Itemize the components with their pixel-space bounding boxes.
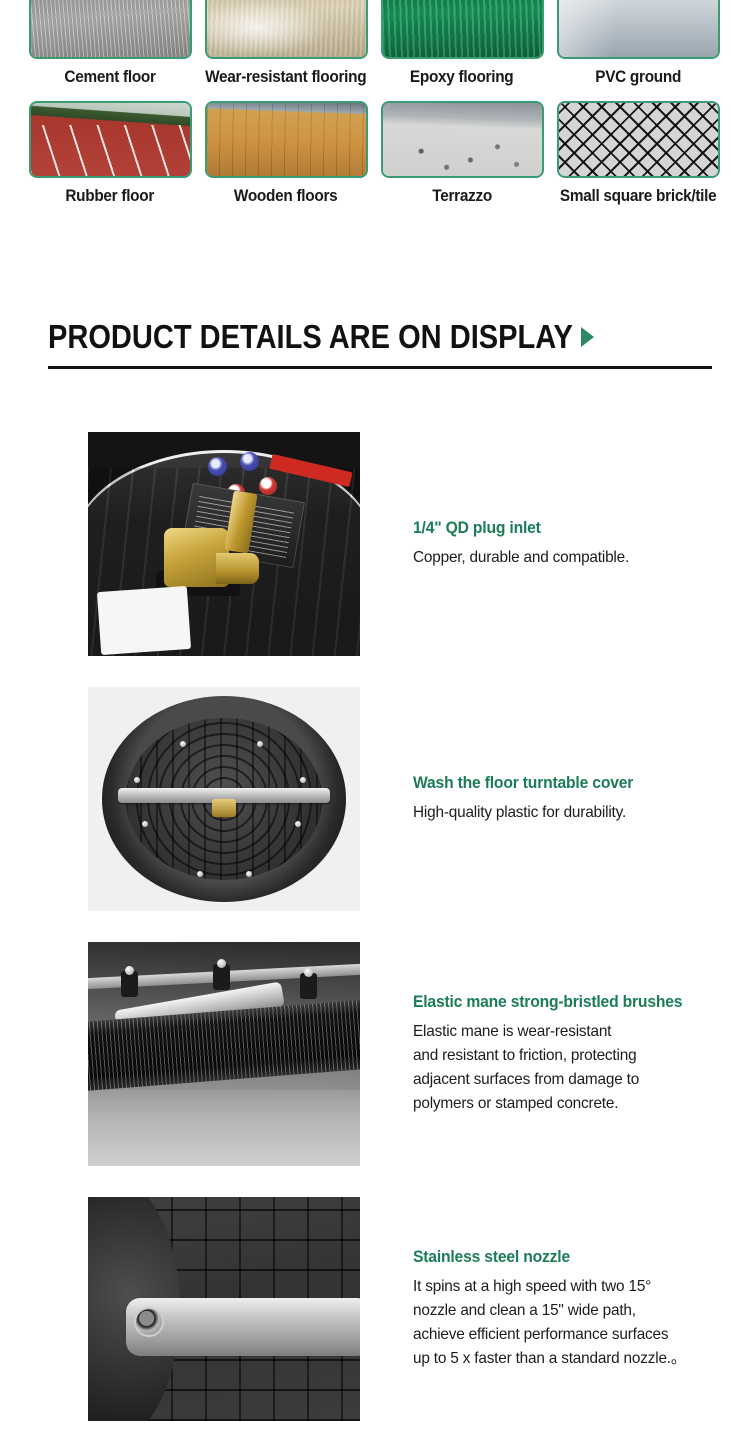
floor-gallery-label: Wear-resistant flooring [205, 68, 366, 87]
heading-divider [48, 366, 712, 369]
screw-icon [257, 741, 263, 747]
screw-icon [197, 871, 203, 877]
floor-gallery-label: Terrazzo [432, 187, 492, 206]
floor-gallery-row: Cement floor Wear-resistant flooring Epo… [0, 0, 750, 101]
product-detail-description: It spins at a high speed with two 15° no… [413, 1275, 686, 1371]
product-detail-row: Wash the floor turntable cover High-qual… [0, 685, 750, 913]
product-detail-title: Elastic mane strong-bristled brushes [413, 993, 682, 1012]
nozzle-tip-icon [134, 1307, 164, 1337]
bristle-brush-photo[interactable] [88, 942, 360, 1166]
terrazzo-texture [383, 103, 542, 176]
product-detail-title: Wash the floor turntable cover [413, 774, 633, 793]
brass-valve-arm [216, 553, 260, 584]
stainless-steel-nozzle-photo[interactable] [88, 1197, 360, 1421]
terrazzo-photo[interactable] [381, 101, 544, 178]
product-detail-copy: Stainless steel nozzle It spins at a hig… [413, 1248, 697, 1371]
product-detail-title: Stainless steel nozzle [413, 1248, 683, 1267]
brass-center-hub [212, 799, 236, 817]
floor-gallery-label: Wooden floors [234, 187, 338, 206]
product-detail-row: Elastic mane strong-bristled brushes Ela… [0, 940, 750, 1168]
floor-type-gallery: Cement floor Wear-resistant flooring Epo… [0, 0, 750, 220]
screw-icon [300, 777, 306, 783]
floor-gallery-item-terrazzo[interactable]: Terrazzo [379, 101, 545, 220]
pvc-texture [559, 0, 718, 57]
product-detail-description: High-quality plastic for durability. [413, 801, 635, 825]
floor-gallery-item-wear-resistant[interactable]: Wear-resistant flooring [203, 0, 369, 101]
product-detail-title: 1/4" QD plug inlet [413, 519, 627, 538]
screw-icon [246, 871, 252, 877]
epoxy-texture [383, 0, 542, 57]
bristle-brush-artwork [88, 942, 360, 1166]
triangle-right-icon [581, 327, 594, 347]
stainless-nozzle-artwork [88, 1197, 360, 1421]
turntable-cover-photo[interactable] [88, 687, 360, 911]
floor-gallery-item-rubber[interactable]: Rubber floor [27, 101, 193, 220]
floor-gallery-item-cement[interactable]: Cement floor [27, 0, 193, 101]
rubber-floor-photo[interactable] [29, 101, 192, 178]
floor-gallery-label: Cement floor [64, 68, 155, 87]
screw-icon [134, 777, 140, 783]
turntable-cover-artwork [88, 687, 360, 911]
floor-gallery-label: Epoxy flooring [410, 68, 514, 87]
floor-gallery-label: Rubber floor [66, 187, 155, 206]
heading-row: PRODUCT DETAILS ARE ON DISPLAY [0, 318, 750, 356]
bristle-clip [300, 973, 317, 999]
floor-gallery-label: Small square brick/tile [560, 187, 716, 206]
wooden-floors-photo[interactable] [205, 101, 368, 178]
product-details-heading-block: PRODUCT DETAILS ARE ON DISPLAY [0, 318, 750, 369]
tile-texture [559, 103, 718, 176]
small-square-brick-tile-photo[interactable] [557, 101, 720, 178]
floor-gallery-label: PVC ground [595, 68, 681, 87]
product-detail-copy: Wash the floor turntable cover High-qual… [413, 774, 645, 825]
floor-gallery-row: Rubber floor Wooden floors Terrazzo Smal… [0, 101, 750, 220]
wear-resistant-texture [207, 0, 366, 57]
qd-plug-inlet-artwork [88, 432, 360, 656]
qd-plug-inlet-photo[interactable] [88, 432, 360, 656]
housing-base [88, 1090, 360, 1166]
product-detail-row: Stainless steel nozzle It spins at a hig… [0, 1195, 750, 1423]
epoxy-flooring-photo[interactable] [381, 0, 544, 59]
cement-floor-texture [31, 0, 190, 57]
bristle-clip [213, 964, 230, 990]
floor-gallery-item-epoxy[interactable]: Epoxy flooring [379, 0, 545, 101]
product-detail-copy: 1/4" QD plug inlet Copper, durable and c… [413, 519, 638, 570]
wooden-floor-texture [207, 103, 366, 176]
product-detail-row: 1/4" QD plug inlet Copper, durable and c… [0, 430, 750, 658]
blue-warning-icon [208, 457, 227, 476]
floor-gallery-item-small-square-brick[interactable]: Small square brick/tile [555, 101, 721, 220]
bristle-clip [121, 971, 138, 997]
cement-floor-photo[interactable] [29, 0, 192, 59]
hang-tag [97, 586, 191, 655]
page-title: PRODUCT DETAILS ARE ON DISPLAY [48, 318, 573, 356]
product-detail-description: Elastic mane is wear-resistant and resis… [413, 1020, 685, 1116]
pvc-ground-photo[interactable] [557, 0, 720, 59]
product-detail-list: 1/4" QD plug inlet Copper, durable and c… [0, 430, 750, 1450]
product-detail-description: Copper, durable and compatible. [413, 546, 629, 570]
rubber-track-texture [31, 103, 190, 176]
floor-gallery-item-pvc[interactable]: PVC ground [555, 0, 721, 101]
product-detail-copy: Elastic mane strong-bristled brushes Ela… [413, 993, 696, 1116]
wear-resistant-flooring-photo[interactable] [205, 0, 368, 59]
floor-gallery-item-wooden[interactable]: Wooden floors [203, 101, 369, 220]
